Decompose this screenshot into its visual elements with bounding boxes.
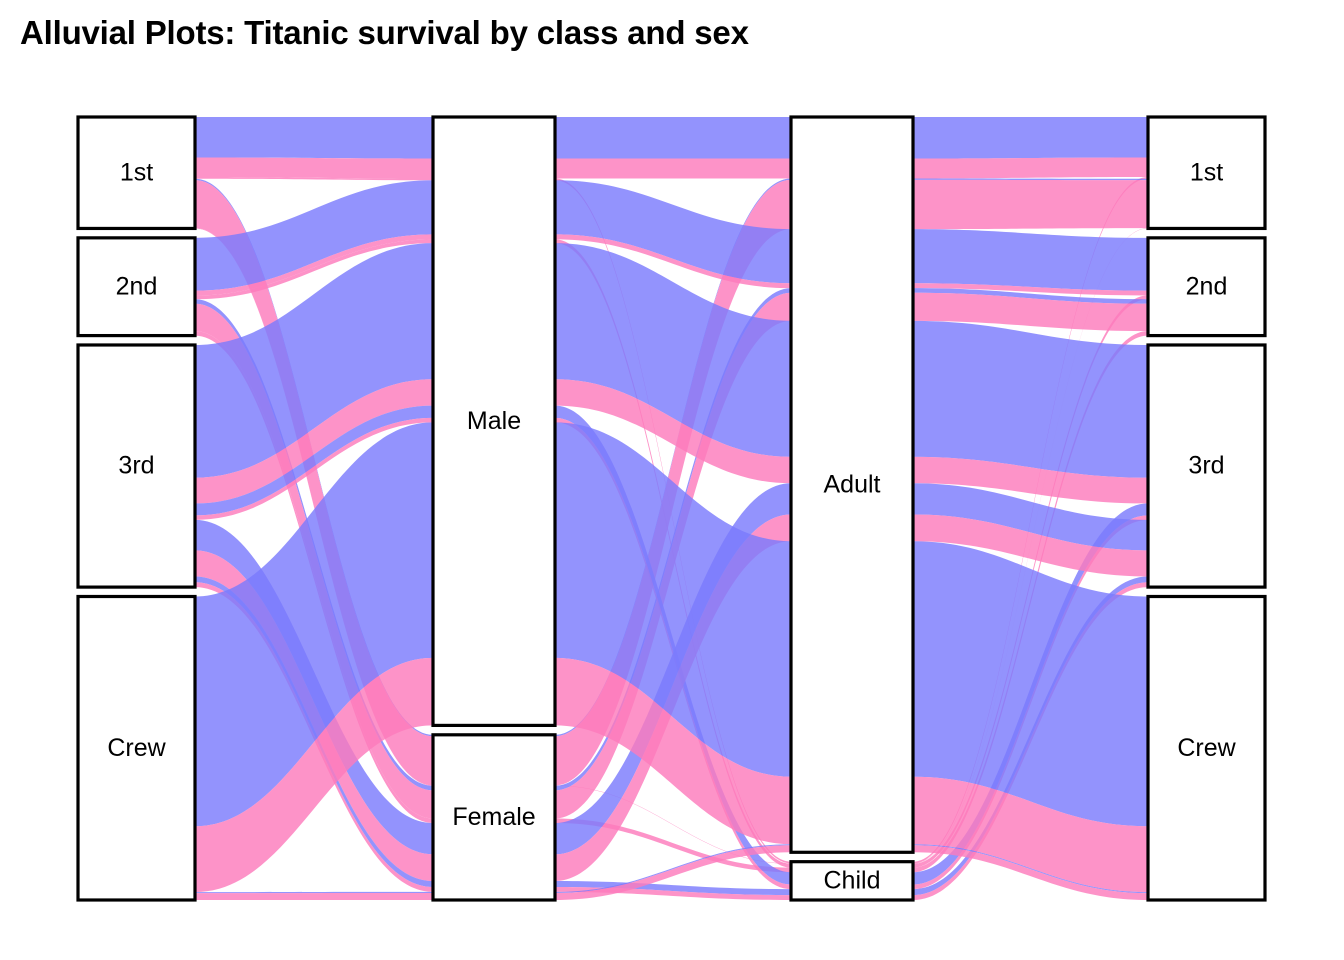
flow-ribbons-layer — [195, 117, 1148, 900]
alluvial-plot-page: Alluvial Plots: Titanic survival by clas… — [0, 0, 1344, 960]
stratum-label-1st: 1st — [1190, 158, 1223, 186]
stratum-label-1st: 1st — [120, 158, 153, 186]
stratum-label-3rd: 3rd — [118, 452, 154, 480]
stratum-label-adult: Adult — [824, 470, 881, 498]
flow-ribbon — [195, 117, 433, 158]
flow-ribbon — [555, 117, 791, 158]
flow-ribbon — [913, 179, 1148, 181]
flow-ribbon — [913, 229, 1148, 291]
alluvial-plot-svg: 1st2nd3rdCrewMaleFemaleAdultChild1st2nd3… — [0, 0, 1344, 960]
flow-ribbon — [913, 321, 1148, 478]
stratum-label-2nd: 2nd — [116, 272, 158, 300]
flow-ribbon — [913, 157, 1148, 178]
stratum-label-female: Female — [452, 803, 535, 831]
stratum-label-2nd: 2nd — [1186, 272, 1228, 300]
stratum-label-male: Male — [467, 407, 521, 435]
stratum-label-3rd: 3rd — [1188, 452, 1224, 480]
flow-ribbon — [195, 157, 433, 178]
stratum-label-child: Child — [824, 866, 881, 894]
flow-ribbon — [913, 180, 1148, 229]
flow-ribbon — [555, 158, 791, 178]
flow-ribbon — [913, 117, 1148, 158]
flow-ribbon — [195, 892, 433, 893]
stratum-label-crew: Crew — [1177, 734, 1236, 762]
stratum-label-crew: Crew — [107, 734, 166, 762]
flow-ribbon — [195, 893, 433, 900]
